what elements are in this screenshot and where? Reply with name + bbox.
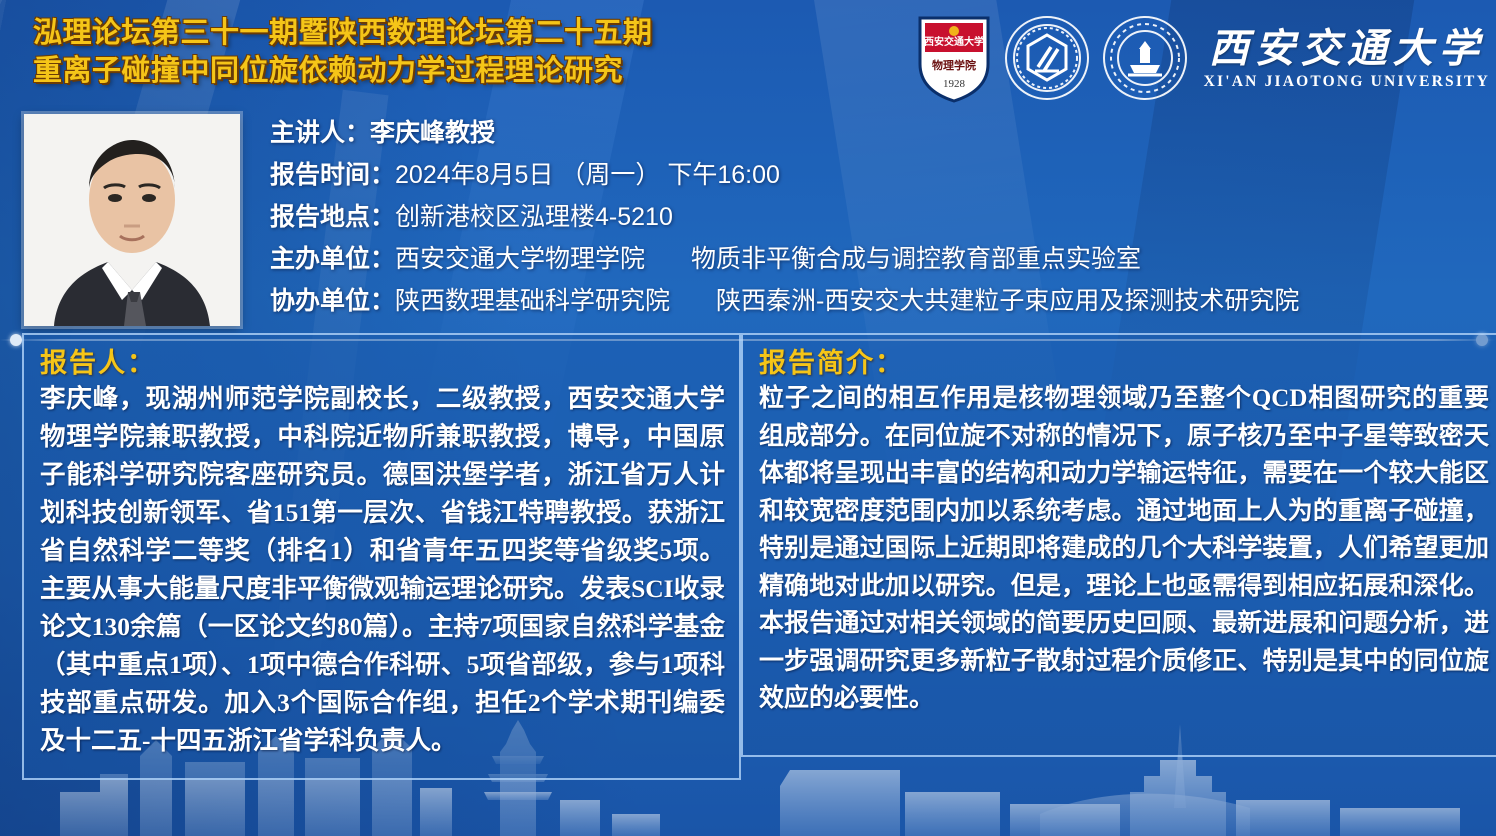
- svg-text:西安交通大学: 西安交通大学: [924, 35, 984, 48]
- info-row-cohost: 协办单位：陕西数理基础科学研究院陕西秦洲-西安交大共建粒子束应用及探测技术研究院: [270, 280, 1485, 322]
- speaker-bio-panel: 报告人： 李庆峰，现湖州师范学院副校长，二级教授，西安交通大学物理学院兼职教授，…: [22, 333, 741, 780]
- host-label: 主办单位：: [270, 245, 395, 273]
- xjtu-seal-logo: [1102, 15, 1188, 101]
- xjtu-physics-shield-logo: 西安交通大学 物理学院 1928: [916, 12, 992, 104]
- abstract-heading: 报告简介：: [759, 341, 1496, 380]
- svg-text:1928: 1928: [943, 78, 966, 90]
- logo-group: 西安交通大学 物理学院 1928 西: [916, 10, 1490, 106]
- title-line-1: 泓理论坛第三十一期暨陕西数理论坛第二十五期: [33, 14, 733, 52]
- divider-dot-left: [10, 334, 22, 346]
- wordmark-english: XI'AN JIAOTONG UNIVERSITY: [1204, 73, 1490, 91]
- title-line-2: 重离子碰撞中同位旋依赖动力学过程理论研究: [33, 52, 733, 90]
- time-label: 报告时间：: [270, 161, 395, 189]
- host-value: 西安交通大学物理学院: [395, 245, 645, 273]
- info-row-venue: 报告地点：创新港校区泓理楼4-5210: [270, 196, 1485, 238]
- venue-label: 报告地点：: [270, 203, 395, 231]
- xjtu-wordmark: 西安交通大学 XI'AN JIAOTONG UNIVERSITY: [1204, 26, 1490, 91]
- event-info-block: 主讲人：李庆峰教授 报告时间：2024年8月5日 （周一） 下午16:00 报告…: [270, 112, 1485, 322]
- poster-title: 泓理论坛第三十一期暨陕西数理论坛第二十五期 重离子碰撞中同位旋依赖动力学过程理论…: [33, 14, 733, 90]
- cohost-value-secondary: 陕西秦洲-西安交大共建粒子束应用及探测技术研究院: [716, 287, 1299, 315]
- info-row-host: 主办单位：西安交通大学物理学院物质非平衡合成与调控教育部重点实验室: [270, 238, 1485, 280]
- abstract-text: 粒子之间的相互作用是核物理领域乃至整个QCD相图研究的重要组成部分。在同位旋不对…: [759, 380, 1489, 718]
- cohost-label: 协办单位：: [270, 287, 395, 315]
- info-row-time: 报告时间：2024年8月5日 （周一） 下午16:00: [270, 154, 1485, 196]
- speaker-label: 主讲人：: [270, 119, 370, 147]
- venue-value: 创新港校区泓理楼4-5210: [395, 203, 673, 231]
- host-value-secondary: 物质非平衡合成与调控教育部重点实验室: [691, 245, 1141, 273]
- bio-text: 李庆峰，现湖州师范学院副校长，二级教授，西安交通大学物理学院兼职教授，中科院近物…: [40, 380, 725, 760]
- bio-heading: 报告人：: [40, 341, 739, 380]
- speaker-portrait-photo: [24, 114, 240, 326]
- abstract-panel: 报告简介： 粒子之间的相互作用是核物理领域乃至整个QCD相图研究的重要组成部分。…: [741, 333, 1496, 757]
- svg-text:物理学院: 物理学院: [932, 58, 976, 72]
- time-value: 2024年8月5日 （周一） 下午16:00: [395, 161, 780, 189]
- info-row-speaker: 主讲人：李庆峰教授: [270, 112, 1485, 154]
- cohost-value: 陕西数理基础科学研究院: [395, 287, 670, 315]
- speaker-name: 李庆峰教授: [370, 119, 495, 147]
- seminar-poster: 泓理论坛第三十一期暨陕西数理论坛第二十五期 重离子碰撞中同位旋依赖动力学过程理论…: [0, 0, 1496, 836]
- portrait-illustration: [24, 114, 240, 326]
- shaanxi-institute-seal-logo: [1004, 15, 1090, 101]
- wordmark-chinese: 西安交通大学: [1209, 26, 1485, 72]
